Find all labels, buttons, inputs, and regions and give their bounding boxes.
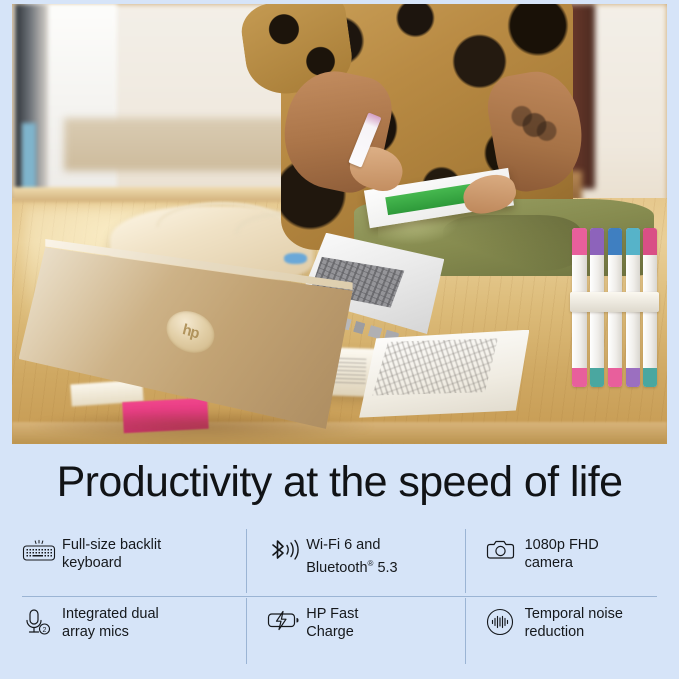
feature-label: 1080p FHD camera [525,536,599,572]
waveform-circle-icon [485,605,525,637]
keyboard-icon [22,536,62,564]
feature-line-1: 1080p FHD [525,537,599,553]
hero-photo: hp [12,4,667,444]
feature-row: Full-size backlit keyboard Wi-Fi 6 and [14,528,665,596]
feature-camera: 1080p FHD camera [466,528,665,596]
person [281,4,667,250]
blue-eraser [284,253,308,264]
feature-line-1: Full-size backlit [62,537,161,553]
feature-grid: Full-size backlit keyboard Wi-Fi 6 and [14,528,665,668]
page-title: Productivity at the speed of life [0,458,679,507]
feature-label: Full-size backlit keyboard [62,536,161,572]
feature-label: HP Fast Charge [306,605,358,641]
feature-line-2: reduction [525,624,585,640]
feature-line-2: camera [525,555,573,571]
feature-line-1: Temporal noise [525,606,623,622]
feature-microphones: 2 Integrated dual array mics [14,597,246,667]
feature-noise-reduction: Temporal noise reduction [466,597,665,667]
feature-line-2: keyboard [62,555,122,571]
feature-row: 2 Integrated dual array mics [14,597,665,667]
hp-logo-text: hp [181,321,201,343]
legs-shading [443,215,581,271]
marker-band [570,292,659,313]
marker-bundle [572,228,657,386]
feature-label: Temporal noise reduction [525,605,623,641]
mic-count-badge: 2 [43,627,47,634]
feature-keyboard: Full-size backlit keyboard [14,528,246,596]
feature-line-1: HP Fast [306,606,358,622]
battery-bolt-icon [266,605,306,633]
feature-line-2: Bluetooth [306,559,367,575]
feature-line-1: Integrated dual [62,606,159,622]
bluetooth-wifi-icon [266,536,306,568]
feature-label: Wi-Fi 6 and Bluetooth® 5.3 [306,536,397,577]
feature-line-1: Wi-Fi 6 and [306,537,380,553]
product-feature-page: hp Productivity at the speed of life [0,0,679,679]
hero-scene: hp [12,4,667,444]
feature-wifi-bluetooth: Wi-Fi 6 and Bluetooth® 5.3 [247,528,464,596]
feature-fast-charge: HP Fast Charge [247,597,464,667]
feature-line-2: array mics [62,624,129,640]
microphone-dual-icon: 2 [22,605,62,637]
feature-line-2: Charge [306,624,354,640]
camera-icon [485,536,525,564]
feature-label: Integrated dual array mics [62,605,159,641]
sketchbook-drawing [372,338,503,395]
feature-line-2-tail: 5.3 [373,559,397,575]
